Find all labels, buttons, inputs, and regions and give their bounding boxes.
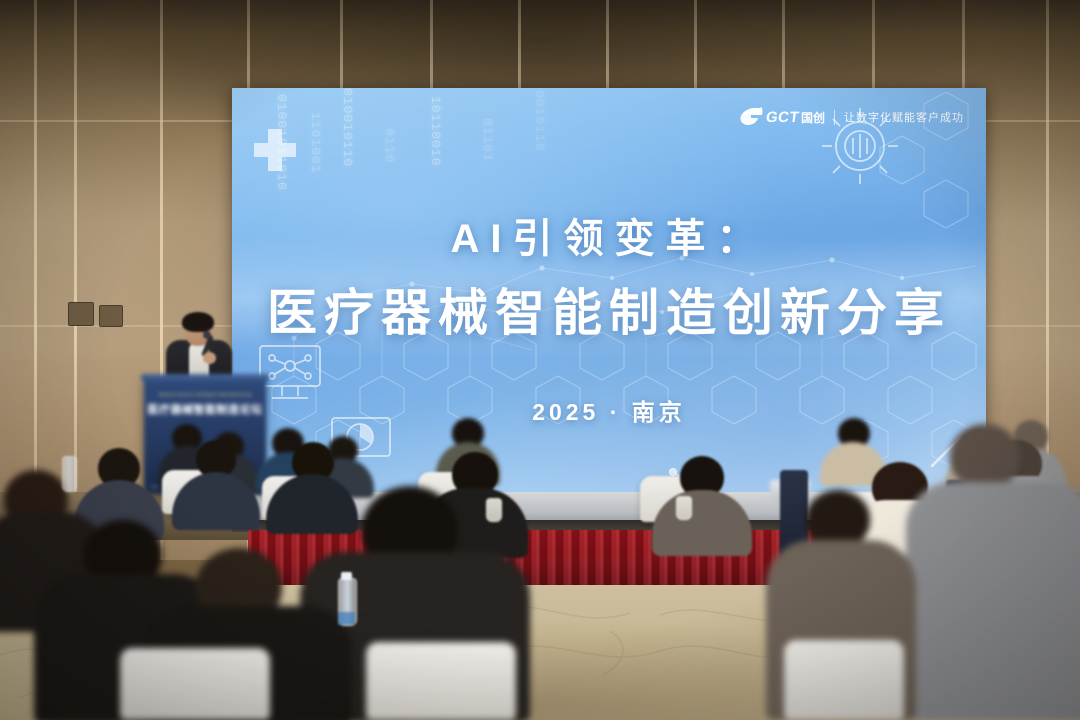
brand-logo: GCT 国创 让数字化赋能客户成功 bbox=[738, 106, 964, 128]
chair-back bbox=[366, 642, 516, 720]
slide-subtitle-year-city: 2025 · 南京 bbox=[232, 393, 986, 427]
audience-head bbox=[950, 424, 1020, 488]
podium-chinese-text: 医疗器械智能制造论坛 bbox=[144, 401, 266, 417]
bottle-label bbox=[338, 612, 355, 625]
logo-divider bbox=[834, 110, 835, 125]
chair-back bbox=[120, 648, 270, 720]
water-bottle bbox=[62, 456, 77, 492]
logo-tagline: 让数字化赋能客户成功 bbox=[844, 109, 964, 125]
screen-surface: 01001011010 1101001 010010110 0110 10110… bbox=[232, 88, 986, 492]
led-presentation-screen: 01001011010 1101001 010010110 0110 10110… bbox=[232, 88, 986, 492]
paper-cup bbox=[486, 498, 502, 522]
binary-column: 0010110 bbox=[532, 90, 547, 220]
podium-footer-text: 2025 bbox=[150, 484, 159, 489]
slide-title-line-2: 医疗器械智能制造创新分享 bbox=[232, 273, 986, 345]
wall-socket-plate bbox=[99, 305, 123, 327]
microphone-head bbox=[203, 331, 211, 339]
logo-mark-icon: GCT 国创 bbox=[738, 106, 825, 128]
slide-title-line-1: AI引领变革： bbox=[232, 206, 986, 264]
audience-shoulders bbox=[906, 482, 1080, 720]
podium-top-edge bbox=[141, 374, 269, 381]
podium-english-text: Medical Device Intelligent Manufacturing bbox=[144, 392, 266, 397]
wall-socket-plate bbox=[68, 302, 94, 326]
swoosh-g-icon bbox=[738, 106, 764, 128]
conference-photo-scene: 01001011010 1101001 010010110 0110 10110… bbox=[0, 0, 1080, 720]
logo-latin-text: GCT bbox=[765, 109, 801, 126]
paper-cup bbox=[676, 496, 692, 520]
bottle-cap bbox=[341, 572, 352, 580]
chair-back bbox=[784, 640, 904, 720]
logo-chinese-text: 国创 bbox=[801, 109, 825, 126]
monitor-network-icon bbox=[260, 346, 320, 398]
speaker-hand bbox=[203, 352, 216, 364]
